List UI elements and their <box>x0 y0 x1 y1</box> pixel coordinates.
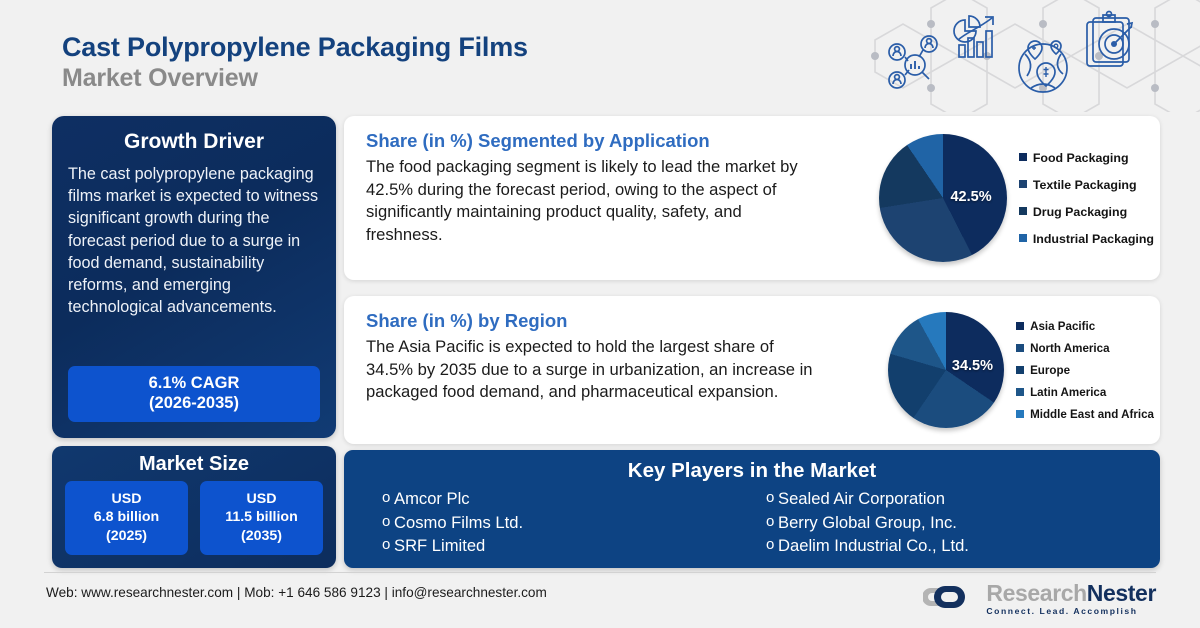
market-size-title: Market Size <box>52 446 336 476</box>
logo-word-nester: Nester <box>1087 580 1156 606</box>
cagr-period: (2026-2035) <box>72 393 316 413</box>
key-player-item: Amcor Plc <box>394 487 752 511</box>
region-legend: Asia PacificNorth AmericaEuropeLatin Ame… <box>1016 320 1154 421</box>
footer-contact: Web: www.researchnester.com | Mob: +1 64… <box>46 584 547 602</box>
hexagon-decoration <box>855 0 1200 112</box>
market-size-values: USD 6.8 billion (2025) USD 11.5 billion … <box>52 476 336 555</box>
pie-center-label: 34.5% <box>952 358 993 374</box>
region-chart-area: 34.5% Asia PacificNorth AmericaEuropeLat… <box>888 296 1154 444</box>
legend-swatch <box>1019 234 1027 242</box>
region-share-card: Share (in %) by Region The Asia Pacific … <box>344 296 1160 444</box>
legend-swatch <box>1016 322 1024 330</box>
growth-chart-icon <box>954 16 993 57</box>
legend-item: Industrial Packaging <box>1019 232 1154 246</box>
page-title: Cast Polypropylene Packaging Films <box>62 32 528 64</box>
region-pie-chart: 34.5% <box>888 312 1004 428</box>
legend-label: Food Packaging <box>1033 151 1129 165</box>
application-share-card: Share (in %) Segmented by Application Th… <box>344 116 1160 280</box>
legend-item: Drug Packaging <box>1019 205 1154 219</box>
application-legend: Food PackagingTextile PackagingDrug Pack… <box>1019 151 1154 246</box>
page-subtitle: Market Overview <box>62 64 528 94</box>
logo-tagline: Connect. Lead. Accomplish <box>986 607 1156 616</box>
key-player-item: SRF Limited <box>394 534 752 558</box>
market-size-amount: 6.8 billion <box>67 508 186 526</box>
legend-item: Asia Pacific <box>1016 320 1154 333</box>
application-card-text: The food packaging segment is likely to … <box>366 156 818 246</box>
market-size-year: (2025) <box>67 527 186 545</box>
legend-label: Asia Pacific <box>1030 320 1095 333</box>
legend-label: Drug Packaging <box>1033 205 1127 219</box>
application-pie-chart: 42.5% <box>879 134 1007 262</box>
pie-center-label: 42.5% <box>950 189 991 205</box>
growth-driver-text: The cast polypropylene packaging films m… <box>68 163 320 318</box>
cagr-value: 6.1% CAGR <box>72 373 316 393</box>
globe-market-icon <box>1019 41 1067 92</box>
legend-label: North America <box>1030 342 1109 355</box>
application-chart-area: 42.5% Food PackagingTextile PackagingDru… <box>879 116 1154 280</box>
network-users-icon <box>889 36 937 88</box>
legend-swatch <box>1019 207 1027 215</box>
key-players-card: Key Players in the Market Amcor PlcCosmo… <box>344 450 1160 568</box>
legend-swatch <box>1016 388 1024 396</box>
legend-item: Latin America <box>1016 386 1154 399</box>
region-card-text: The Asia Pacific is expected to hold the… <box>366 336 818 404</box>
legend-swatch <box>1016 366 1024 374</box>
key-player-item: Sealed Air Corporation <box>778 487 1136 511</box>
key-player-item: Cosmo Films Ltd. <box>394 511 752 535</box>
legend-item: Middle East and Africa <box>1016 408 1154 421</box>
legend-swatch <box>1016 344 1024 352</box>
key-players-title: Key Players in the Market <box>368 459 1136 483</box>
market-size-box: USD 6.8 billion (2025) <box>65 481 188 555</box>
market-size-year: (2035) <box>202 527 321 545</box>
infographic-page: Cast Polypropylene Packaging Films Marke… <box>0 0 1200 628</box>
key-player-item: Berry Global Group, Inc. <box>778 511 1136 535</box>
legend-label: Industrial Packaging <box>1033 232 1154 246</box>
key-players-left-column: Amcor PlcCosmo Films Ltd.SRF Limited <box>368 487 752 558</box>
market-size-box: USD 11.5 billion (2035) <box>200 481 323 555</box>
legend-swatch <box>1019 153 1027 161</box>
page-header: Cast Polypropylene Packaging Films Marke… <box>62 32 528 93</box>
legend-swatch <box>1016 410 1024 418</box>
legend-item: North America <box>1016 342 1154 355</box>
market-size-currency: USD <box>67 490 186 508</box>
legend-item: Textile Packaging <box>1019 178 1154 192</box>
market-size-currency: USD <box>202 490 321 508</box>
research-nester-logo: ResearchNester Connect. Lead. Accomplish <box>923 582 1156 616</box>
legend-label: Textile Packaging <box>1033 178 1137 192</box>
legend-item: Europe <box>1016 364 1154 377</box>
legend-swatch <box>1019 180 1027 188</box>
legend-label: Middle East and Africa <box>1030 408 1154 421</box>
logo-mark-icon <box>923 584 977 614</box>
market-size-amount: 11.5 billion <box>202 508 321 526</box>
key-player-item: Daelim Industrial Co., Ltd. <box>778 534 1136 558</box>
growth-driver-card: Growth Driver The cast polypropylene pac… <box>52 116 336 438</box>
market-size-card: Market Size USD 6.8 billion (2025) USD 1… <box>52 446 336 568</box>
cagr-badge: 6.1% CAGR (2026-2035) <box>68 366 320 422</box>
legend-label: Latin America <box>1030 386 1106 399</box>
clipboard-target-icon <box>1087 12 1132 67</box>
key-players-right-column: Sealed Air CorporationBerry Global Group… <box>752 487 1136 558</box>
growth-driver-title: Growth Driver <box>68 130 320 154</box>
legend-item: Food Packaging <box>1019 151 1154 165</box>
legend-label: Europe <box>1030 364 1070 377</box>
logo-word-research: Research <box>986 580 1086 606</box>
footer-divider <box>44 572 1156 573</box>
